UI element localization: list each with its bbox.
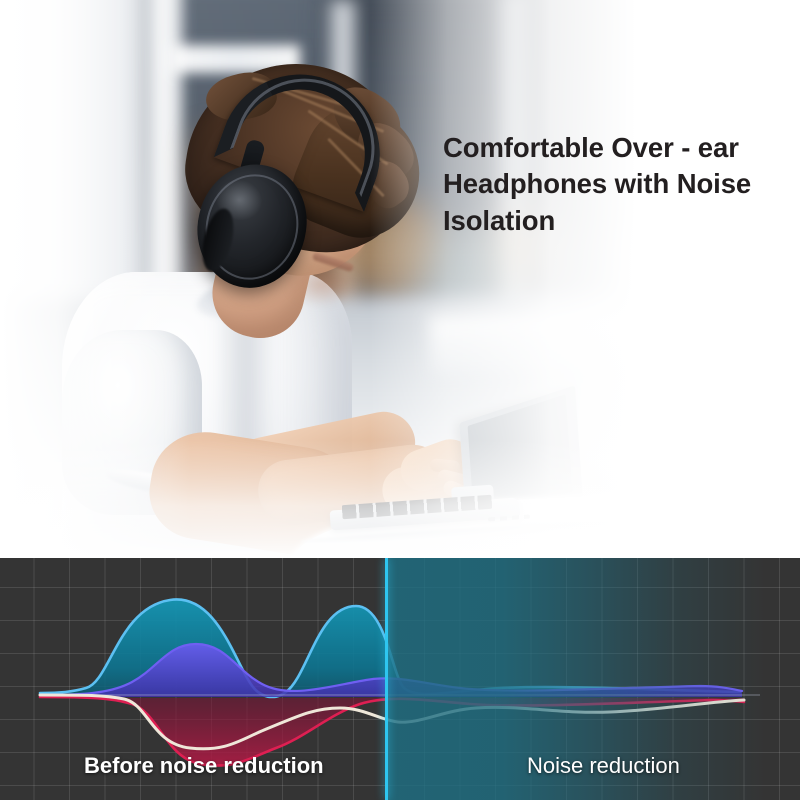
chin-shadow [286, 262, 358, 306]
headline-line-1: Comfortable Over - ear [443, 130, 791, 166]
label-before-noise-reduction: Before noise reduction [84, 753, 324, 779]
headline-line-3: Isolation [443, 203, 791, 239]
headline: Comfortable Over - ear Headphones with N… [443, 130, 791, 239]
label-noise-reduction: Noise reduction [527, 753, 680, 779]
divider-line [385, 558, 388, 800]
bottom-white-fade [0, 440, 800, 560]
hero-photo [0, 0, 800, 560]
headline-line-2: Headphones with Noise [443, 166, 791, 202]
product-poster: Comfortable Over - ear Headphones with N… [0, 0, 800, 800]
